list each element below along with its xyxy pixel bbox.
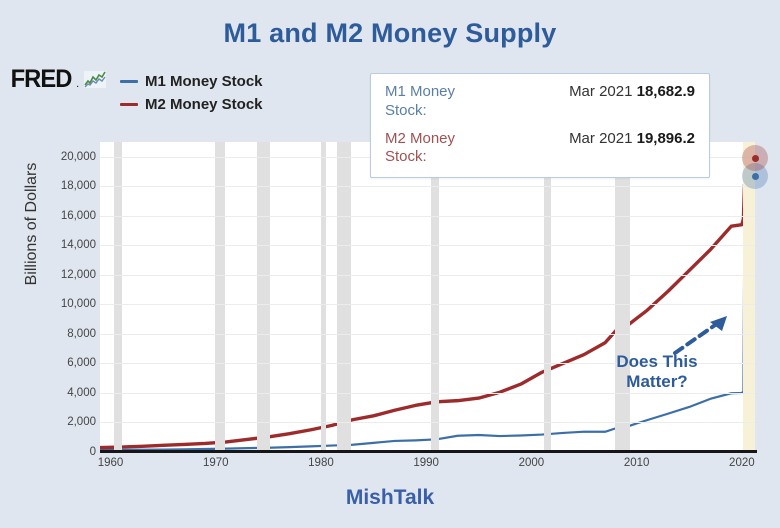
x-axis-tick-label: 2000 — [519, 457, 545, 469]
gridline — [100, 422, 755, 423]
page-title: M1 and M2 Money Supply — [0, 18, 780, 49]
y-axis-tick-label: 2,000 — [4, 416, 96, 428]
recession-band — [337, 142, 352, 452]
x-axis-tick-label: 1960 — [98, 457, 124, 469]
y-axis-tick-label: 10,000 — [4, 298, 96, 310]
gridline — [100, 275, 755, 276]
recession-band — [215, 142, 226, 452]
recession-band — [257, 142, 271, 452]
gridline — [100, 186, 755, 187]
x-axis-line — [100, 450, 757, 453]
tooltip-row-m1: M1 Money Stock: Mar 2021 18,682.9 — [385, 83, 695, 121]
y-axis-tick-label: 0 — [4, 446, 96, 458]
gridline — [100, 245, 755, 246]
gridline — [100, 393, 755, 394]
chart-legend: M1 Money Stock M2 Money Stock — [120, 70, 263, 116]
gridline — [100, 304, 755, 305]
recession-band — [321, 142, 326, 452]
dashed-arrow-up-right-icon — [672, 314, 732, 356]
series-line — [100, 176, 755, 450]
plot-area[interactable] — [100, 142, 755, 452]
tooltip-date-m2: Mar 2021 — [569, 130, 632, 147]
tooltip-series-name-m1: M1 Money Stock: — [385, 83, 497, 121]
recession-band — [114, 142, 122, 452]
y-axis-tick-label: 8,000 — [4, 328, 96, 340]
series-lines — [100, 142, 755, 452]
tooltip-number-m2: 19,896.2 — [637, 130, 695, 147]
recession-band — [544, 142, 551, 452]
legend-swatch-m1 — [120, 80, 138, 83]
x-axis-tick-label: 1980 — [308, 457, 334, 469]
y-axis-tick-label: 18,000 — [4, 180, 96, 192]
y-axis-tick-label: 4,000 — [4, 387, 96, 399]
x-axis-tick-label: 2020 — [729, 457, 755, 469]
tooltip-date-m1: Mar 2021 — [569, 83, 632, 100]
y-axis-ticks: 02,0004,0006,0008,00010,00012,00014,0001… — [0, 142, 96, 452]
gridline — [100, 334, 755, 335]
recession-band — [431, 142, 438, 452]
y-axis-tick-label: 12,000 — [4, 269, 96, 281]
series-line — [100, 158, 755, 447]
tooltip-number-m1: 18,682.9 — [637, 83, 695, 100]
endpoint-dot — [752, 155, 759, 162]
endpoint-dot — [752, 173, 759, 180]
legend-label-m1: M1 Money Stock — [145, 73, 263, 90]
y-axis-tick-label: 6,000 — [4, 357, 96, 369]
x-axis-tick-label: 1970 — [203, 457, 229, 469]
tooltip-row-m2: M2 Money Stock: Mar 2021 19,896.2 — [385, 130, 695, 168]
recession-band — [615, 142, 631, 452]
y-axis-tick-label: 16,000 — [4, 210, 96, 222]
legend-item-m1[interactable]: M1 Money Stock — [120, 70, 263, 93]
plot-inner — [100, 142, 755, 452]
tooltip-value-m2: Mar 2021 19,896.2 — [497, 130, 695, 147]
tooltip-value-m1: Mar 2021 18,682.9 — [497, 83, 695, 100]
legend-swatch-m2 — [120, 103, 138, 106]
footer-brand: MishTalk — [0, 486, 780, 510]
y-axis-tick-label: 20,000 — [4, 151, 96, 163]
fred-wordmark: FRED — [11, 67, 72, 92]
tooltip-series-name-m2: M2 Money Stock: — [385, 130, 497, 168]
sparkline-icon — [84, 71, 106, 88]
annotation-line-2: Matter? — [592, 372, 722, 392]
legend-label-m2: M2 Money Stock — [145, 96, 263, 113]
annotation-text: Does This Matter? — [592, 352, 722, 393]
legend-item-m2[interactable]: M2 Money Stock — [120, 93, 263, 116]
fred-dot: . — [76, 78, 79, 92]
data-tooltip[interactable]: M1 Money Stock: Mar 2021 18,682.9 M2 Mon… — [370, 73, 710, 178]
x-axis-tick-label: 1990 — [413, 457, 439, 469]
y-axis-tick-label: 14,000 — [4, 239, 96, 251]
gridline — [100, 216, 755, 217]
x-axis-tick-label: 2010 — [624, 457, 650, 469]
